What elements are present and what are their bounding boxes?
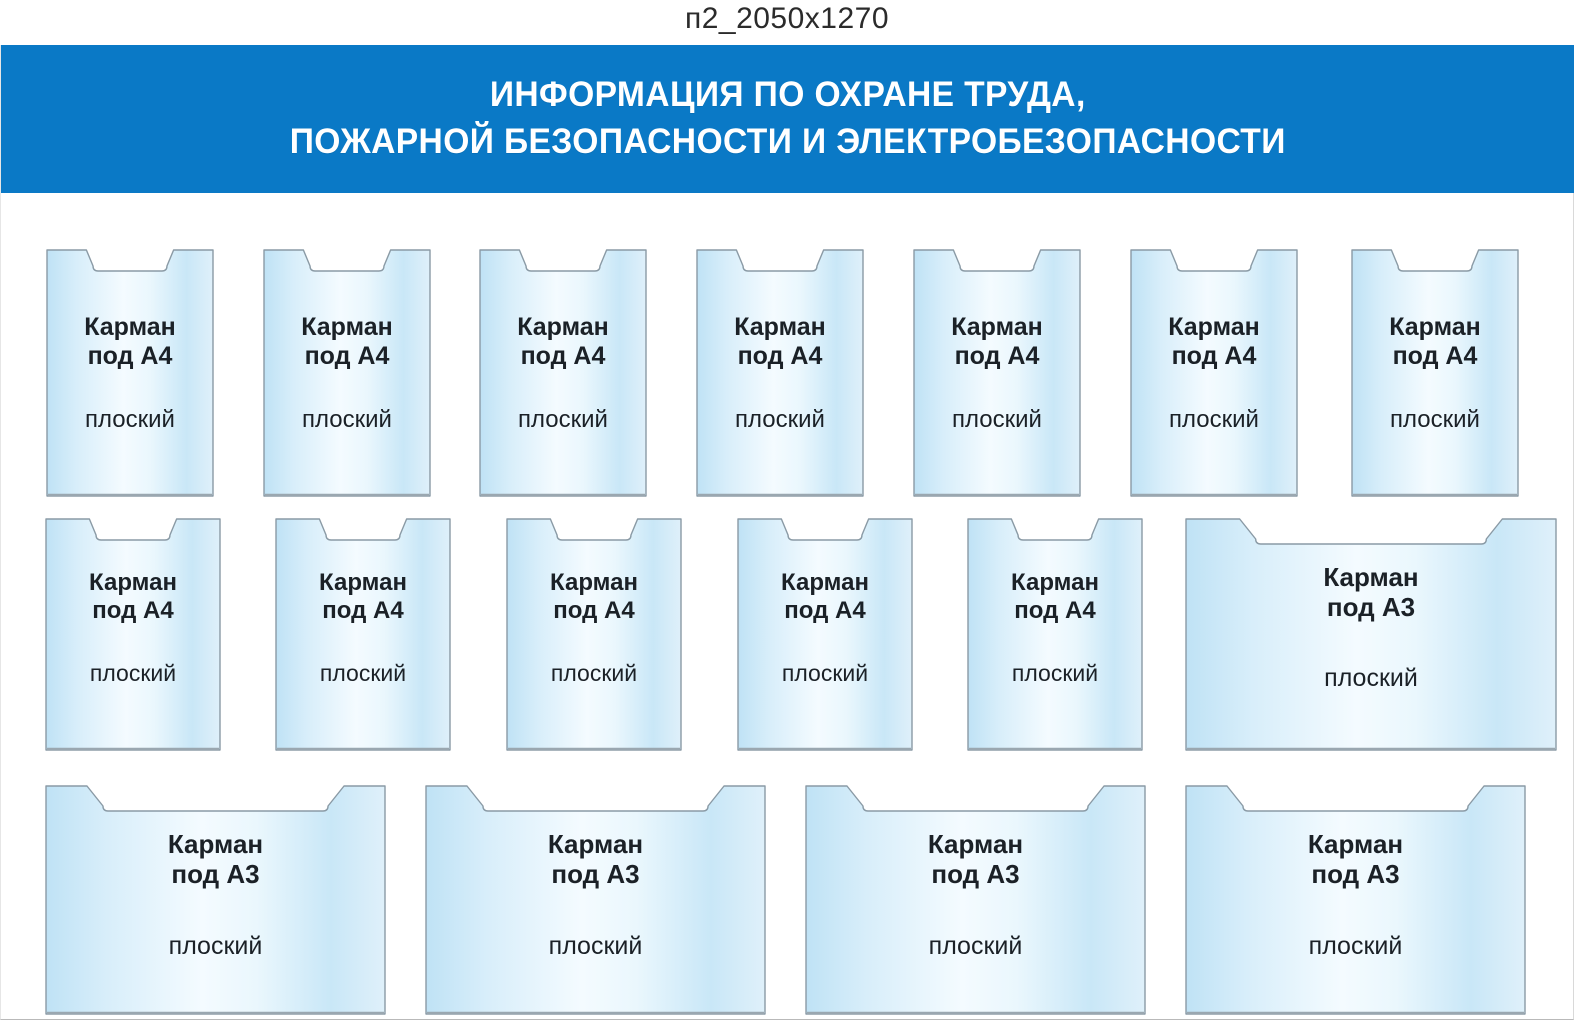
pockets-area: Карманпод А4плоскийКарманпод А4плоскийКа…: [1, 193, 1574, 1020]
pocket-a3-row-3-2[interactable]: Карманпод А3плоский: [425, 785, 766, 1015]
pocket-a4-row-1-3[interactable]: Карманпод А4плоский: [479, 249, 647, 497]
pocket-a3-row-3-1[interactable]: Карманпод А3плоский: [45, 785, 386, 1015]
pocket-a4-row-1-2[interactable]: Карманпод А4плоский: [263, 249, 431, 497]
information-board: ИНФОРМАЦИЯ ПО ОХРАНЕ ТРУДА, ПОЖАРНОЙ БЕЗ…: [0, 45, 1574, 1020]
file-caption: п2_2050x1270: [0, 2, 1574, 36]
pocket-a4-row-1-4[interactable]: Карманпод А4плоский: [696, 249, 864, 497]
board-title-line-2: ПОЖАРНОЙ БЕЗОПАСНОСТИ И ЭЛЕКТРОБЕЗОПАСНО…: [290, 119, 1286, 166]
pocket-a4-row-2-1[interactable]: Карманпод А4плоский: [45, 518, 221, 751]
pocket-a4-row-1-1[interactable]: Карманпод А4плоский: [46, 249, 214, 497]
pocket-a4-row-1-6[interactable]: Карманпод А4плоский: [1130, 249, 1298, 497]
board-title-line-1: ИНФОРМАЦИЯ ПО ОХРАНЕ ТРУДА,: [290, 72, 1286, 119]
stand-preview-screen: п2_2050x1270 ИНФОРМАЦИЯ ПО ОХРАНЕ ТРУДА,…: [0, 0, 1574, 1020]
pocket-a4-row-1-7[interactable]: Карманпод А4плоский: [1351, 249, 1519, 497]
pocket-a3-row-2-6[interactable]: Карманпод А3плоский: [1185, 518, 1557, 751]
pocket-a3-row-3-4[interactable]: Карманпод А3плоский: [1185, 785, 1526, 1015]
pocket-a4-row-2-5[interactable]: Карманпод А4плоский: [967, 518, 1143, 751]
pocket-a4-row-1-5[interactable]: Карманпод А4плоский: [913, 249, 1081, 497]
pocket-a4-row-2-3[interactable]: Карманпод А4плоский: [506, 518, 682, 751]
board-title: ИНФОРМАЦИЯ ПО ОХРАНЕ ТРУДА, ПОЖАРНОЙ БЕЗ…: [261, 72, 1315, 166]
pocket-a3-row-3-3[interactable]: Карманпод А3плоский: [805, 785, 1146, 1015]
pocket-a4-row-2-4[interactable]: Карманпод А4плоский: [737, 518, 913, 751]
board-header: ИНФОРМАЦИЯ ПО ОХРАНЕ ТРУДА, ПОЖАРНОЙ БЕЗ…: [1, 45, 1574, 193]
pocket-a4-row-2-2[interactable]: Карманпод А4плоский: [275, 518, 451, 751]
